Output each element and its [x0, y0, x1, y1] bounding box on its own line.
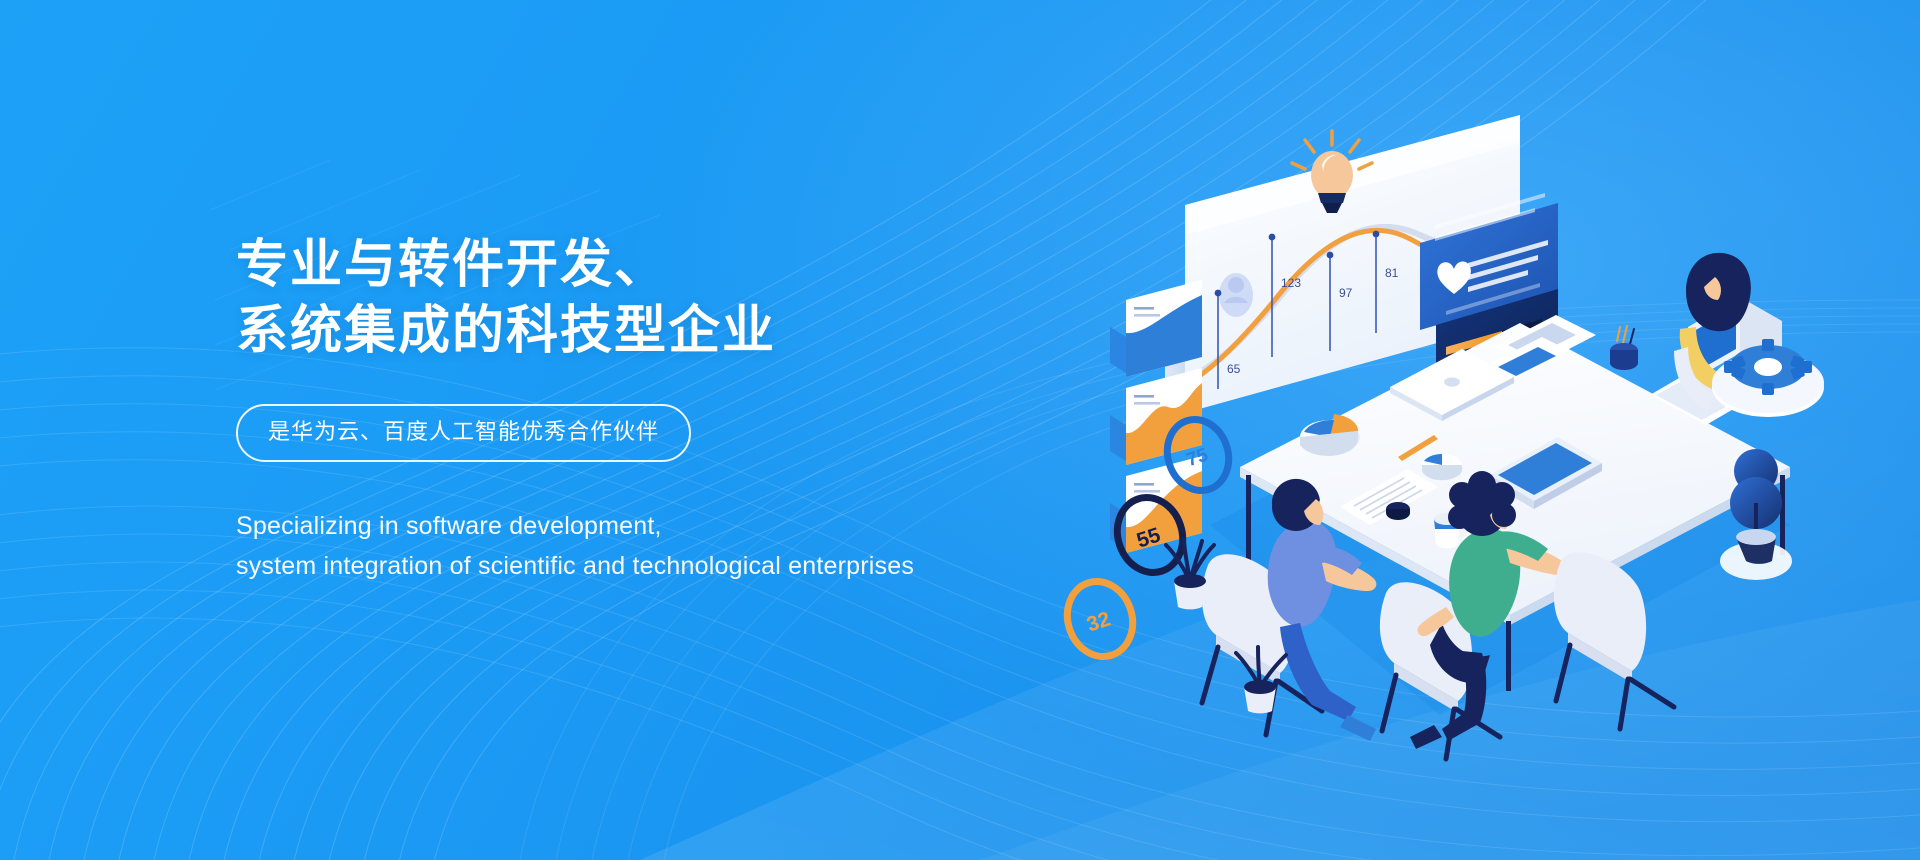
- gauge-32: 32: [1058, 573, 1142, 665]
- chart-label-123: 123: [1281, 276, 1301, 290]
- partner-badge: 是华为云、百度人工智能优秀合作伙伴: [236, 404, 691, 462]
- headline-line-1: 专业与转件开发、: [236, 232, 1136, 298]
- chart-label-65: 65: [1227, 362, 1241, 376]
- hero-illustration: 65 123 97 81: [1090, 95, 1900, 745]
- pen-cup: [1610, 326, 1638, 370]
- subtitle-line-2: system integration of scientific and tec…: [236, 546, 1136, 586]
- page-title: 专业与转件开发、 系统集成的科技型企业: [236, 232, 1136, 364]
- pie-chart-small: [1422, 454, 1462, 480]
- hero-copy: 专业与转件开发、 系统集成的科技型企业 是华为云、百度人工智能优秀合作伙伴 Sp…: [236, 232, 1136, 586]
- chart-label-81: 81: [1385, 266, 1399, 280]
- hero-banner: 专业与转件开发、 系统集成的科技型企业 是华为云、百度人工智能优秀合作伙伴 Sp…: [0, 0, 1920, 860]
- subtitle-line-1: Specializing in software development,: [236, 506, 1136, 546]
- headline-line-2: 系统集成的科技型企业: [236, 298, 1136, 364]
- hero-subtitle: Specializing in software development, sy…: [236, 506, 1136, 586]
- avatar-placeholder-icon: [1219, 273, 1253, 317]
- pie-chart-large: [1300, 414, 1360, 456]
- small-cup: [1386, 502, 1410, 520]
- isometric-office-scene: 65 123 97 81: [1090, 95, 1900, 745]
- chart-label-97: 97: [1339, 286, 1353, 300]
- gauge-label-32: 32: [1084, 608, 1113, 637]
